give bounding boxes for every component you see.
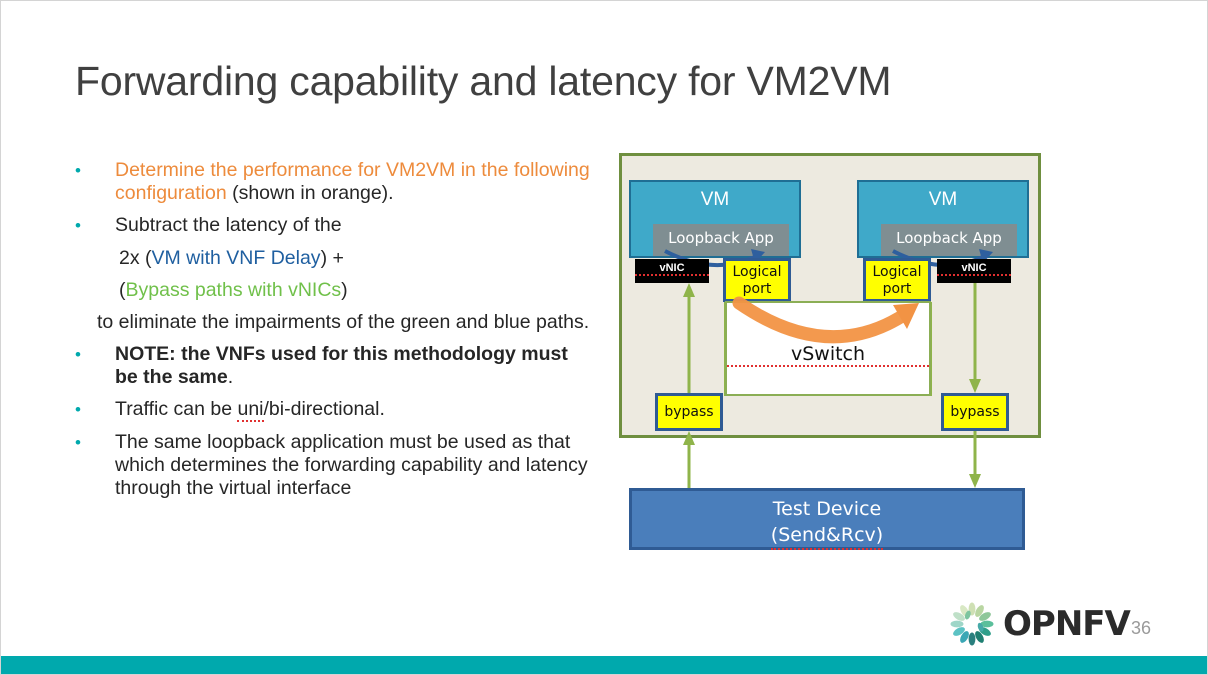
bullet-text-plain: (shown in orange). [227, 182, 394, 204]
bullet-text: Determine the performance for VM2VM in t… [115, 159, 591, 205]
vnic-right-label: vNIC [937, 262, 1011, 276]
list-item: • The same loopback application must be … [71, 431, 591, 500]
spellcheck-word: uni [237, 398, 263, 422]
bullet-marker: • [71, 431, 115, 455]
list-item: • Determine the performance for VM2VM in… [71, 159, 591, 205]
sub-line-green: Bypass paths with vNICs [126, 279, 342, 301]
list-item: • NOTE: the VNFs used for this methodolo… [71, 343, 591, 389]
vswitch-label: vSwitch [727, 343, 929, 367]
vm-right-label: VM [859, 189, 1027, 211]
traffic-suffix: /bi-directional. [264, 398, 385, 420]
sub-line-suffix: ) [341, 279, 348, 301]
vm-left-label: VM [631, 189, 799, 211]
loopback-app-label: Loopback App [653, 229, 789, 247]
sub-line-bypass-paths: (Bypass paths with vNICs) [119, 279, 591, 302]
logical-port-right: Logical port [863, 258, 931, 302]
bullet-text: Traffic can be uni/bi-directional. [115, 398, 591, 421]
sub-line-prefix: 2x ( [119, 247, 152, 269]
bullet-marker: • [71, 214, 115, 238]
list-item: • Subtract the latency of the [71, 214, 591, 238]
logical-port-right-line2: port [866, 281, 928, 298]
continuation-text: to eliminate the impairments of the gree… [71, 311, 591, 334]
logical-port-right-line1: Logical [866, 264, 928, 281]
page-number: 36 [1131, 618, 1151, 639]
vm-right: VM Loopback App [857, 180, 1029, 258]
opnfv-wordmark: OPNFV [1003, 604, 1130, 644]
traffic-prefix: Traffic can be [115, 398, 237, 420]
test-device-line1: Test Device [632, 496, 1022, 522]
burst-petals-icon [947, 601, 997, 647]
slide: Forwarding capability and latency for VM… [0, 0, 1208, 675]
logical-port-left: Logical port [723, 258, 791, 302]
opnfv-logo: OPNFV [947, 601, 1117, 647]
loopback-app-bar-right: Loopback App [881, 224, 1017, 256]
sub-line-vnf-delay: 2x (VM with VNF Delay) + [119, 247, 591, 270]
page-title: Forwarding capability and latency for VM… [75, 58, 891, 105]
loopback-app-label: Loopback App [881, 229, 1017, 247]
vnic-right: vNIC [937, 259, 1011, 283]
bullet-marker: • [71, 159, 115, 183]
sub-line-blue: VM with VNF Delay [152, 247, 321, 269]
logical-port-left-line2: port [726, 281, 788, 298]
test-device-box: Test Device (Send&Rcv) [629, 488, 1025, 550]
loopback-app-bar-left: Loopback App [653, 224, 789, 256]
test-device-line2: (Send&Rcv) [771, 522, 883, 550]
note-bold-text: NOTE: the VNFs used for this methodology… [115, 343, 568, 388]
bullet-text: Subtract the latency of the [115, 214, 591, 237]
vnic-left: vNIC [635, 259, 709, 283]
logical-port-left-line1: Logical [726, 264, 788, 281]
sub-line-suffix: ) + [321, 247, 344, 269]
bullet-text: The same loopback application must be us… [115, 431, 591, 500]
vnic-left-label: vNIC [635, 262, 709, 276]
vswitch-box: vSwitch [725, 301, 931, 396]
vm2vm-diagram: VM Loopback App VM Loopback App vNIC vNI… [619, 153, 1043, 559]
bypass-right: bypass [941, 393, 1009, 431]
bypass-left: bypass [655, 393, 723, 431]
bullet-marker: • [71, 343, 115, 367]
list-item: • Traffic can be uni/bi-directional. [71, 398, 591, 422]
note-period: . [228, 366, 233, 388]
bullet-list: • Determine the performance for VM2VM in… [71, 159, 591, 509]
bullet-text: NOTE: the VNFs used for this methodology… [115, 343, 591, 389]
bullet-marker: • [71, 398, 115, 422]
vm-left: VM Loopback App [629, 180, 801, 258]
bottom-accent-bar [1, 656, 1207, 674]
